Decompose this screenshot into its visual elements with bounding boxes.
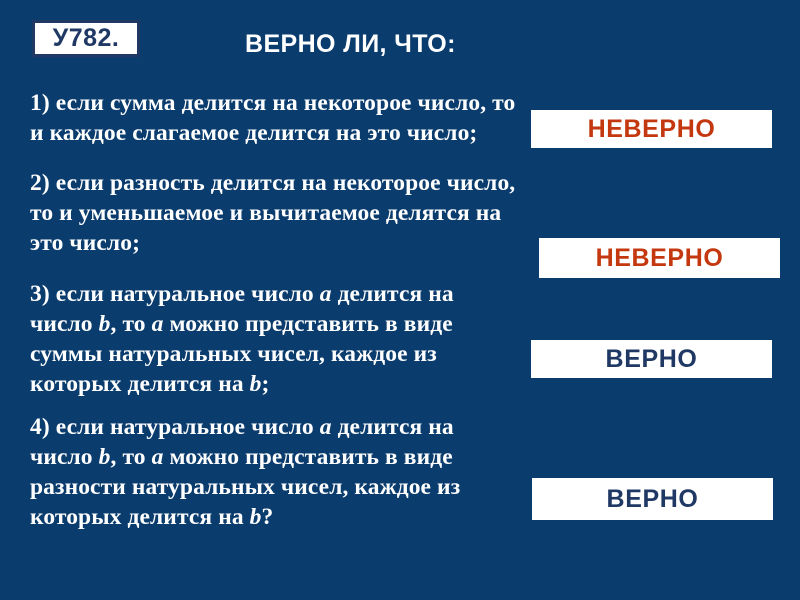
statement-item-2: 2) если разность делится на некоторое чи… — [30, 168, 520, 258]
statement-4-var-a1: a — [320, 414, 332, 440]
statement-3-part-3: , то — [111, 311, 152, 337]
statement-4-part-5: ? — [262, 504, 274, 530]
answer-badge-3: ВЕРНО — [531, 340, 772, 378]
statements-list: 1) если сумма делится на некоторое число… — [30, 88, 520, 532]
statement-3-var-a2: a — [152, 311, 164, 337]
statement-3-var-b2: b — [250, 371, 262, 397]
statement-item-4: 4) если натуральное число a делится на ч… — [30, 412, 520, 532]
answer-badge-4: ВЕРНО — [532, 478, 773, 520]
answer-badge-2: НЕВЕРНО — [539, 238, 780, 278]
statement-4-var-b2: b — [250, 504, 262, 530]
statement-3-part-5: ; — [262, 371, 270, 397]
slide-canvas: У782. ВЕРНО ЛИ, ЧТО: 1) если сумма делит… — [0, 0, 800, 600]
statement-3-var-a1: a — [320, 281, 332, 307]
task-number-badge: У782. — [32, 20, 140, 57]
statement-item-3: 3) если натуральное число a делится на ч… — [30, 279, 520, 399]
page-title: ВЕРНО ЛИ, ЧТО: — [245, 30, 456, 59]
statement-3-var-b1: b — [99, 311, 111, 337]
statement-4-part-1: 4) если натуральное число — [30, 414, 320, 440]
statement-3-part-1: 3) если натуральное число — [30, 281, 320, 307]
statement-item-1: 1) если сумма делится на некоторое число… — [30, 88, 520, 148]
statement-4-part-3: , то — [111, 444, 152, 470]
answer-badge-1: НЕВЕРНО — [531, 110, 772, 148]
statement-4-var-a2: a — [152, 444, 164, 470]
statement-4-var-b1: b — [99, 444, 111, 470]
